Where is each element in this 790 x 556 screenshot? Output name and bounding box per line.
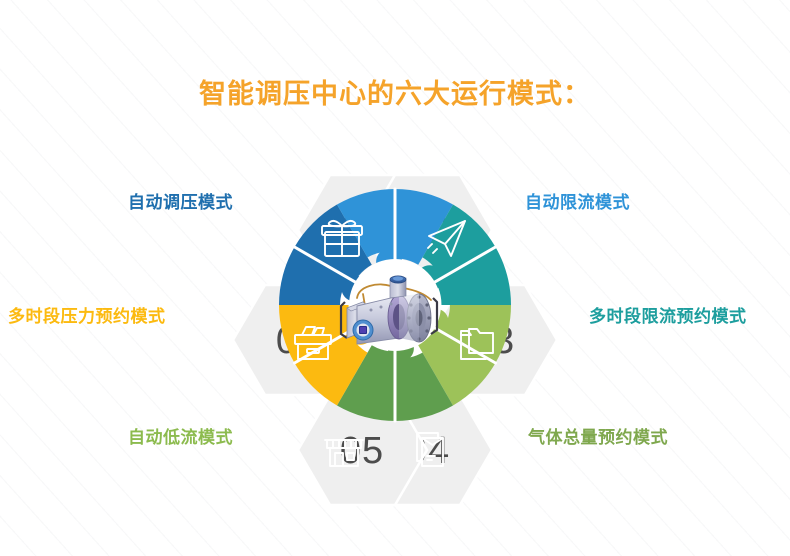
infographic-canvas: 智能调压中心的六大运行模式： 01 02 bbox=[0, 0, 790, 556]
mode-label-03[interactable]: 多时段限流预约模式 bbox=[589, 302, 747, 327]
mode-label-01[interactable]: 自动调压模式 bbox=[128, 188, 233, 213]
gas-pressure-regulator-valve bbox=[333, 272, 445, 358]
page-title: 智能调压中心的六大运行模式： bbox=[0, 72, 790, 111]
mode-label-04[interactable]: 气体总量预约模式 bbox=[528, 423, 668, 448]
mode-label-06[interactable]: 多时段压力预约模式 bbox=[8, 302, 166, 327]
mode-label-05[interactable]: 自动低流模式 bbox=[128, 423, 233, 448]
mode-label-02[interactable]: 自动限流模式 bbox=[525, 188, 630, 213]
